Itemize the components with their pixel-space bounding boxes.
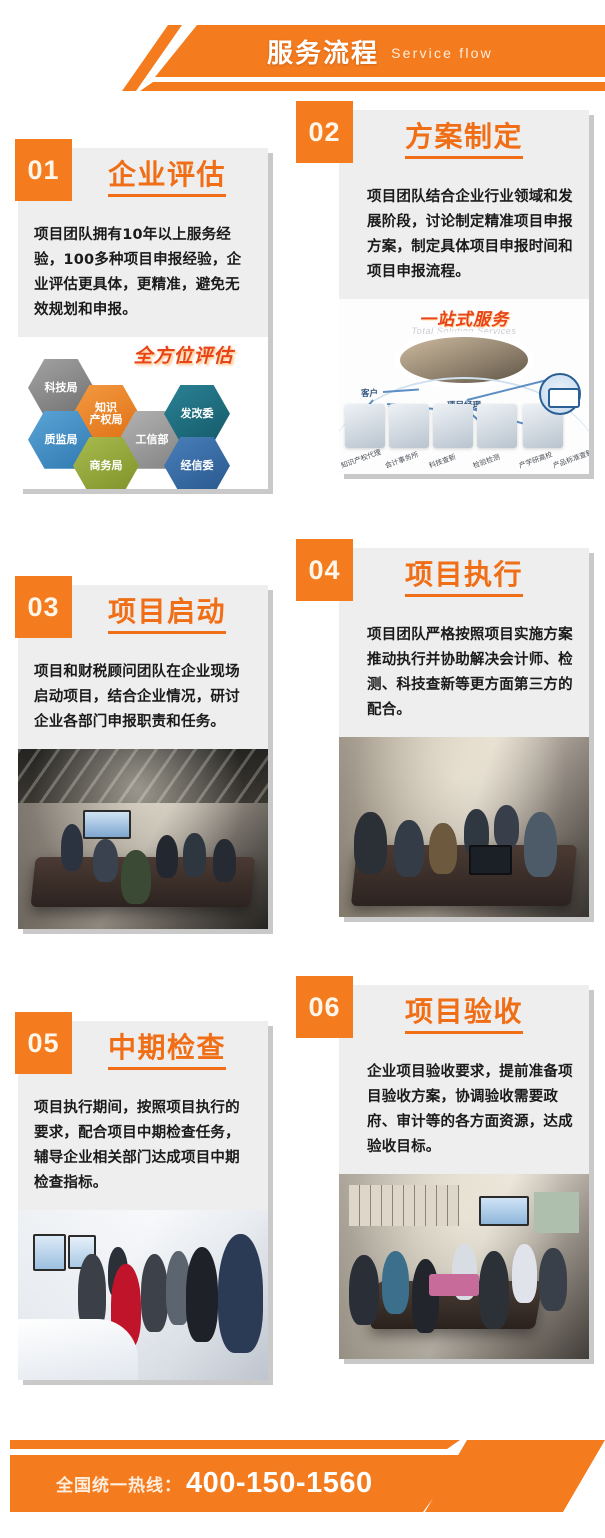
photo-site-visit [18,1210,268,1380]
step-description: 项目团队严格按照项目实施方案推动执行并协助解决会计师、检测、科技查新等更方面第三… [339,610,589,737]
photo-conference-room [18,749,268,929]
header-accent-stripe [140,82,605,91]
step-title: 中期检查 [108,1034,226,1070]
step-title: 项目验收 [405,998,523,1034]
hexagon-label: 工信部 [136,434,169,446]
step-description: 项目团队拥有10年以上服务经验，100多种项目申报经验，企业评估更具体，更精准，… [18,210,268,337]
diagram-role-customer: 客户 [361,387,378,399]
step-card-header: 方案制定 [339,110,589,172]
step-card-header: 项目验收 [339,985,589,1047]
step-card-panel: 05 中期检查 项目执行期间，按照项目执行的要求，配合项目中期检查任务，辅导企业… [18,1021,268,1380]
hexagon-infographic: 全方位评估 科技局 知识 产权局 质监局 工信部 商务局 发改委 经信委 [18,337,268,489]
step-number-badge: 02 [296,101,353,163]
certification-seal-icon [539,373,581,415]
hexagon-label: 经信委 [181,460,214,472]
service-flow-poster: 服务流程 Service flow 01 企业评估 项目团队拥有10年以上服务经… [0,0,605,1538]
step-title: 项目执行 [405,561,523,597]
step-number-badge: 01 [15,139,72,201]
hexagon-label: 发改委 [181,408,214,420]
step-card-02[interactable]: 02 方案制定 项目团队结合企业行业领域和发展阶段，讨论制定精准项目申报方案，制… [339,110,589,474]
photo-acceptance-meeting [339,1174,589,1359]
step-description: 企业项目验收要求，提前准备项目验收方案，协调验收需要政府、审计等的各方面资源，达… [339,1047,589,1174]
photo-working-meeting [339,737,589,917]
step-card-04[interactable]: 04 项目执行 项目团队严格按照项目实施方案推动执行并协助解决会计师、检测、科技… [339,548,589,917]
step-media: 一站式服务 Total Solution Services 客户 项目经理 [339,299,589,474]
one-stop-service-diagram: 一站式服务 Total Solution Services 客户 项目经理 [339,299,589,474]
step-media [18,1210,268,1380]
step-number-badge: 06 [296,976,353,1038]
hotline-block: 全国统一热线： 400-150-1560 [56,1455,373,1512]
hexagon-label: 质监局 [45,434,78,446]
hotline-number[interactable]: 400-150-1560 [186,1467,373,1500]
footer-accent-stripe [10,1440,460,1449]
diagram-node [389,404,429,448]
diagram-team-photo [400,337,528,383]
step-number-badge: 04 [296,539,353,601]
step-card-panel: 06 项目验收 企业项目验收要求，提前准备项目验收方案，协调验收需要政府、审计等… [339,985,589,1359]
step-description: 项目和财税顾问团队在企业现场启动项目，结合企业情况，研讨企业各部门申报职责和任务… [18,647,268,749]
step-description: 项目团队结合企业行业领域和发展阶段，讨论制定精准项目申报方案，制定具体项目申报时… [339,172,589,299]
page-subtitle: Service flow [391,41,493,61]
step-card-06[interactable]: 06 项目验收 企业项目验收要求，提前准备项目验收方案，协调验收需要政府、审计等… [339,985,589,1359]
diagram-node [477,404,517,448]
step-card-panel: 03 项目启动 项目和财税顾问团队在企业现场启动项目，结合企业情况，研讨企业各部… [18,585,268,929]
step-media [339,737,589,917]
step-card-panel: 02 方案制定 项目团队结合企业行业领域和发展阶段，讨论制定精准项目申报方案，制… [339,110,589,474]
step-media: 全方位评估 科技局 知识 产权局 质监局 工信部 商务局 发改委 经信委 [18,337,268,489]
page-header: 服务流程 Service flow [0,0,605,108]
diagram-node [345,404,385,448]
step-card-01[interactable]: 01 企业评估 项目团队拥有10年以上服务经验，100多种项目申报经验，企业评估… [18,148,268,489]
page-title: 服务流程 [267,33,379,70]
step-number-badge: 03 [15,576,72,638]
step-title: 企业评估 [108,161,226,197]
hexagon-label: 知识 产权局 [90,402,123,425]
step-number-badge: 05 [15,1012,72,1074]
diagram-node [433,404,473,448]
step-card-panel: 04 项目执行 项目团队严格按照项目实施方案推动执行并协助解决会计师、检测、科技… [339,548,589,917]
step-card-header: 项目执行 [339,548,589,610]
step-card-03[interactable]: 03 项目启动 项目和财税顾问团队在企业现场启动项目，结合企业情况，研讨企业各部… [18,585,268,929]
footer-slant-decoration [425,1440,605,1512]
step-card-panel: 01 企业评估 项目团队拥有10年以上服务经验，100多种项目申报经验，企业评估… [18,148,268,489]
infographic-caption: 全方位评估 [106,341,261,368]
step-description: 项目执行期间，按照项目执行的要求，配合项目中期检查任务，辅导企业相关部门达成项目… [18,1083,268,1210]
hotline-label: 全国统一热线： [56,1471,182,1496]
step-card-05[interactable]: 05 中期检查 项目执行期间，按照项目执行的要求，配合项目中期检查任务，辅导企业… [18,1021,268,1380]
diagram-subcaption: Total Solution Services [339,326,589,336]
step-media [339,1174,589,1359]
hexagon-label: 科技局 [45,382,78,394]
step-media [18,749,268,929]
page-footer: 全国统一热线： 400-150-1560 [0,1400,605,1538]
header-banner: 服务流程 Service flow [155,25,605,77]
step-title: 方案制定 [405,123,523,159]
step-title: 项目启动 [108,598,226,634]
hexagon-label: 商务局 [90,460,123,472]
